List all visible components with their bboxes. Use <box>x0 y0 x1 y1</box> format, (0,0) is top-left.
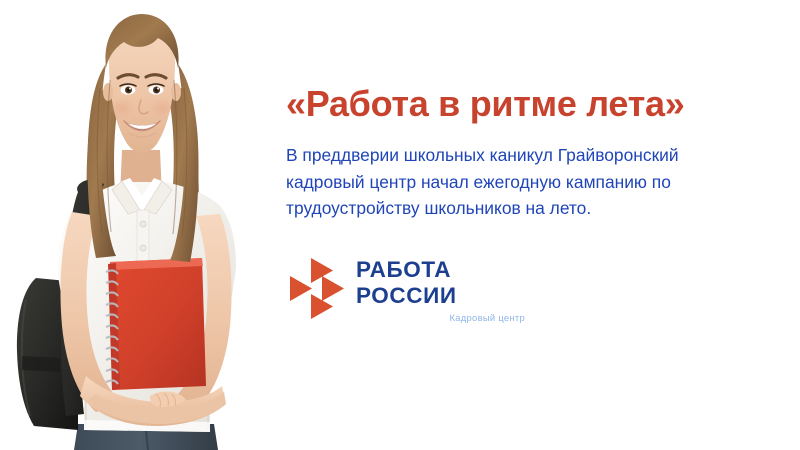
logo-line-rabota: РАБОТА <box>356 258 576 282</box>
poster-canvas: «Работа в ритме лета» В преддверии школь… <box>0 0 800 450</box>
content-column: «Работа в ритме лета» В преддверии школь… <box>286 0 786 450</box>
logo-subtitle: Кадровый центр <box>356 312 525 323</box>
rabota-rossii-logo[interactable]: РАБОТА РОССИИ Кадровый центр <box>288 256 588 328</box>
student-photo-illustration <box>0 0 280 450</box>
page-title: «Работа в ритме лета» <box>286 82 684 126</box>
student-photo <box>0 0 280 450</box>
logo-line-rossii: РОССИИ <box>356 284 576 308</box>
body-paragraph: В преддверии школьных каникул Грайворонс… <box>286 142 718 222</box>
logo-wordmark: РАБОТА РОССИИ Кадровый центр <box>356 258 576 323</box>
four-triangles-mark-icon <box>288 256 352 320</box>
